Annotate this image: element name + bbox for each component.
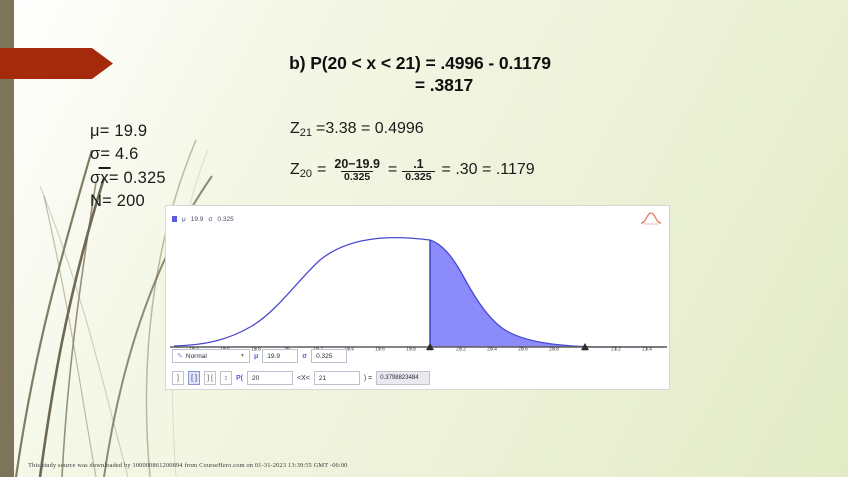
- equation-z20: Z20 = 20−19.9 0.325 = .1 0.325 = .30 = .…: [290, 157, 535, 184]
- chevron-down-icon[interactable]: ▼: [240, 353, 245, 359]
- parameter-mu: μ= 19.9: [90, 120, 166, 143]
- page-title: b) P(20 < x < 21) = .4996 - 0.1179 = .38…: [210, 52, 630, 97]
- parameter-sigma: σ= 4.6: [90, 143, 166, 166]
- parameter-n: N= 200: [90, 190, 166, 213]
- z20-subscript: 20: [300, 168, 312, 180]
- probability-result-value: 0.3798823484: [380, 375, 418, 381]
- z20-label: Z: [290, 161, 300, 179]
- mu-field-label: μ: [254, 353, 258, 360]
- svg-text:20.2: 20.2: [456, 347, 466, 352]
- mode-left-tail-button[interactable]: ]: [172, 371, 184, 385]
- z20-fraction-2: .1 0.325: [402, 157, 434, 184]
- mode-two-tail-button[interactable]: ] [: [204, 371, 216, 385]
- shaded-region: [430, 240, 663, 347]
- distribution-selected-label: Normal: [186, 353, 207, 360]
- sigma-field-label: σ: [302, 353, 307, 360]
- title-line-1: b) P(20 < x < 21) = .4996 - 0.1179: [210, 52, 630, 74]
- z20-equals-2: =: [388, 161, 397, 179]
- z21-body: =3.38 = 0.4996: [316, 120, 424, 138]
- svg-text:19.8: 19.8: [406, 347, 416, 352]
- probability-controls-row[interactable]: ] [ ] ] [ ↕ P( 20 <X< 21 ) = 0.379882348…: [172, 371, 430, 385]
- distribution-calculator-panel[interactable]: μ 19.9 σ 0.325: [165, 205, 670, 390]
- svg-text:21.2: 21.2: [611, 347, 621, 352]
- z20-frac1-numerator: 20−19.9: [331, 157, 383, 171]
- coursehero-watermark: This study source was downloaded by 1000…: [28, 462, 348, 469]
- mode-swap-button[interactable]: ↕: [220, 371, 232, 385]
- legend-swatch-icon: [172, 216, 177, 222]
- legend-mu-value: 19.9: [191, 216, 204, 223]
- z20-frac2-numerator: .1: [410, 157, 426, 171]
- pencil-icon: ✎: [177, 353, 183, 360]
- probability-label: P(: [236, 375, 243, 382]
- z20-tail: = .30 = .1179: [442, 161, 535, 179]
- legend-sigma-value: 0.325: [217, 216, 233, 223]
- mu-input[interactable]: 19.9: [262, 349, 298, 363]
- z20-frac1-denominator: 0.325: [341, 171, 373, 184]
- svg-text:19.6: 19.6: [375, 347, 385, 352]
- z20-fraction-1: 20−19.9 0.325: [331, 157, 383, 184]
- mu-input-value: 19.9: [267, 353, 280, 360]
- svg-text:20.8: 20.8: [549, 347, 559, 352]
- probability-result: 0.3798823484: [376, 371, 430, 385]
- z20-equals-1: =: [317, 161, 326, 179]
- svg-text:20.6: 20.6: [518, 347, 528, 352]
- lower-bound-value: 20: [252, 375, 259, 382]
- arrow-banner: [0, 48, 113, 79]
- sigma-input-value: 0.325: [316, 353, 332, 360]
- legend-mu-symbol: μ: [182, 216, 186, 223]
- sigma-input[interactable]: 0.325: [311, 349, 347, 363]
- mode-interval-button[interactable]: [ ]: [188, 371, 200, 385]
- lower-bound-input[interactable]: 20: [247, 371, 293, 385]
- slide-canvas: b) P(20 < x < 21) = .4996 - 0.1179 = .38…: [0, 0, 848, 477]
- svg-text:20: 20: [427, 347, 433, 352]
- distribution-select[interactable]: ✎Normal ▼: [172, 349, 250, 363]
- svg-text:21: 21: [582, 347, 588, 352]
- parameter-sigma-xbar: σx= 0.325: [90, 167, 166, 190]
- legend-sigma-symbol: σ: [208, 216, 212, 223]
- svg-text:21.4: 21.4: [642, 347, 652, 352]
- distribution-controls-row[interactable]: ✎Normal ▼ μ 19.9 σ 0.325: [172, 349, 347, 363]
- x-bar-symbol: x: [100, 167, 108, 190]
- calculator-legend: μ 19.9 σ 0.325: [166, 206, 669, 226]
- z21-subscript: 21: [300, 127, 312, 139]
- upper-bound-value: 21: [319, 375, 326, 382]
- equation-z21: Z21 =3.38 = 0.4996: [290, 120, 424, 138]
- parameter-list: μ= 19.9 σ= 4.6 σx= 0.325 N= 200: [90, 120, 166, 214]
- result-equals-label: ) =: [364, 375, 372, 382]
- svg-text:20.4: 20.4: [487, 347, 497, 352]
- title-line-2: = .3817: [258, 74, 630, 96]
- z20-frac2-denominator: 0.325: [402, 171, 434, 184]
- normal-curve-path: [174, 238, 663, 347]
- distribution-plot[interactable]: 18.418.6 18.819 19.219.4 19.619.8 2020.2…: [166, 226, 671, 351]
- normal-curve-icon[interactable]: [640, 210, 662, 225]
- upper-bound-input[interactable]: 21: [314, 371, 360, 385]
- z21-label: Z: [290, 120, 300, 138]
- inequality-label: <X<: [297, 375, 310, 382]
